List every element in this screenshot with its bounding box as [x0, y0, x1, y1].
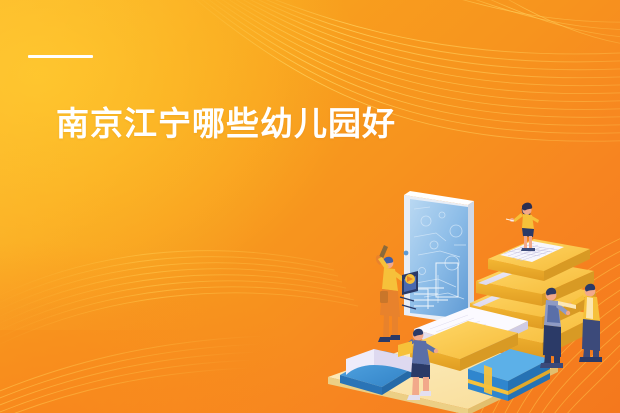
tablet-screen: [404, 191, 474, 325]
page-title: 南京江宁哪些幼儿园好: [56, 104, 396, 144]
background-sheen-lower: [0, 240, 335, 413]
title-accent-rule: [28, 55, 93, 58]
hero-illustration: [318, 179, 620, 413]
article-banner: 南京江宁哪些幼儿园好: [0, 0, 620, 413]
